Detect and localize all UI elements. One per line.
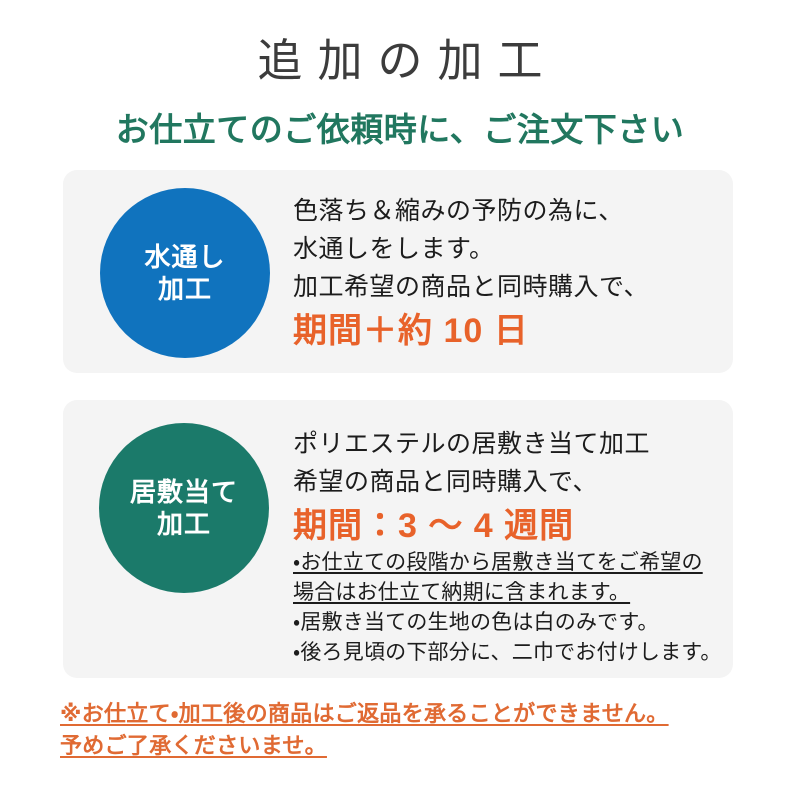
note-line: ・居敷き当ての生地の色は白のみです。 [293,608,723,638]
body-line: 希望の商品と同時購入で、 [293,463,721,501]
notes-list: ・お仕立ての段階から居敷き当てをご希望の 場合はお仕立て納期に含まれます。 ・居… [293,548,723,668]
card-mizutoshi-kakou: 水通し 加工 色落ち＆縮みの予防の為に、 水通しをします。 加工希望の商品と同時… [63,170,733,373]
note-line: ・お仕立ての段階から居敷き当てをご希望の [293,548,723,578]
card-body-mizutoshi: 色落ち＆縮みの予防の為に、 水通しをします。 加工希望の商品と同時購入で、 期間… [293,192,721,354]
lead-time-highlight: 期間：3 〜 4 週間 [293,503,721,549]
card-ishikiate-kakou: 居敷当て 加工 ポリエステルの居敷き当て加工 希望の商品と同時購入で、 期間：3… [63,400,733,678]
note-line: ・後ろ見頃の下部分に、二巾でお付けします。 [293,638,723,668]
badge-mizutoshi-kakou: 水通し 加工 [100,188,270,358]
card-body-ishikiate: ポリエステルの居敷き当て加工 希望の商品と同時購入で、 期間：3 〜 4 週間 [293,425,721,549]
footer-disclaimer: ※お仕立て・加工後の商品はご返品を承ることができません。 予めご了承くださいませ… [60,698,780,762]
promo-page: 追加の加工 お仕立てのご依頼時に、ご注文下さい 水通し 加工 色落ち＆縮みの予防… [0,0,800,800]
badge-label-line1: 水通し [144,241,225,274]
page-title: 追加の加工 [0,36,800,86]
badge-label-line2: 加工 [158,273,212,306]
body-line: ポリエステルの居敷き当て加工 [293,425,721,463]
lead-time-highlight: 期間＋約 10 日 [293,308,721,354]
page-subtitle: お仕立てのご依頼時に、ご注文下さい [0,110,800,150]
note-line: 場合はお仕立て納期に含まれます。 [293,578,723,608]
footer-line: ※お仕立て・加工後の商品はご返品を承ることができません。 [60,698,780,730]
body-line: 加工希望の商品と同時購入で、 [293,268,721,306]
footer-line: 予めご了承くださいませ。 [60,730,780,762]
badge-ishikiate-kakou: 居敷当て 加工 [99,423,269,593]
badge-label-line1: 居敷当て [130,476,238,509]
body-line: 水通しをします。 [293,230,721,268]
badge-label-line2: 加工 [157,508,211,541]
body-line: 色落ち＆縮みの予防の為に、 [293,192,721,230]
